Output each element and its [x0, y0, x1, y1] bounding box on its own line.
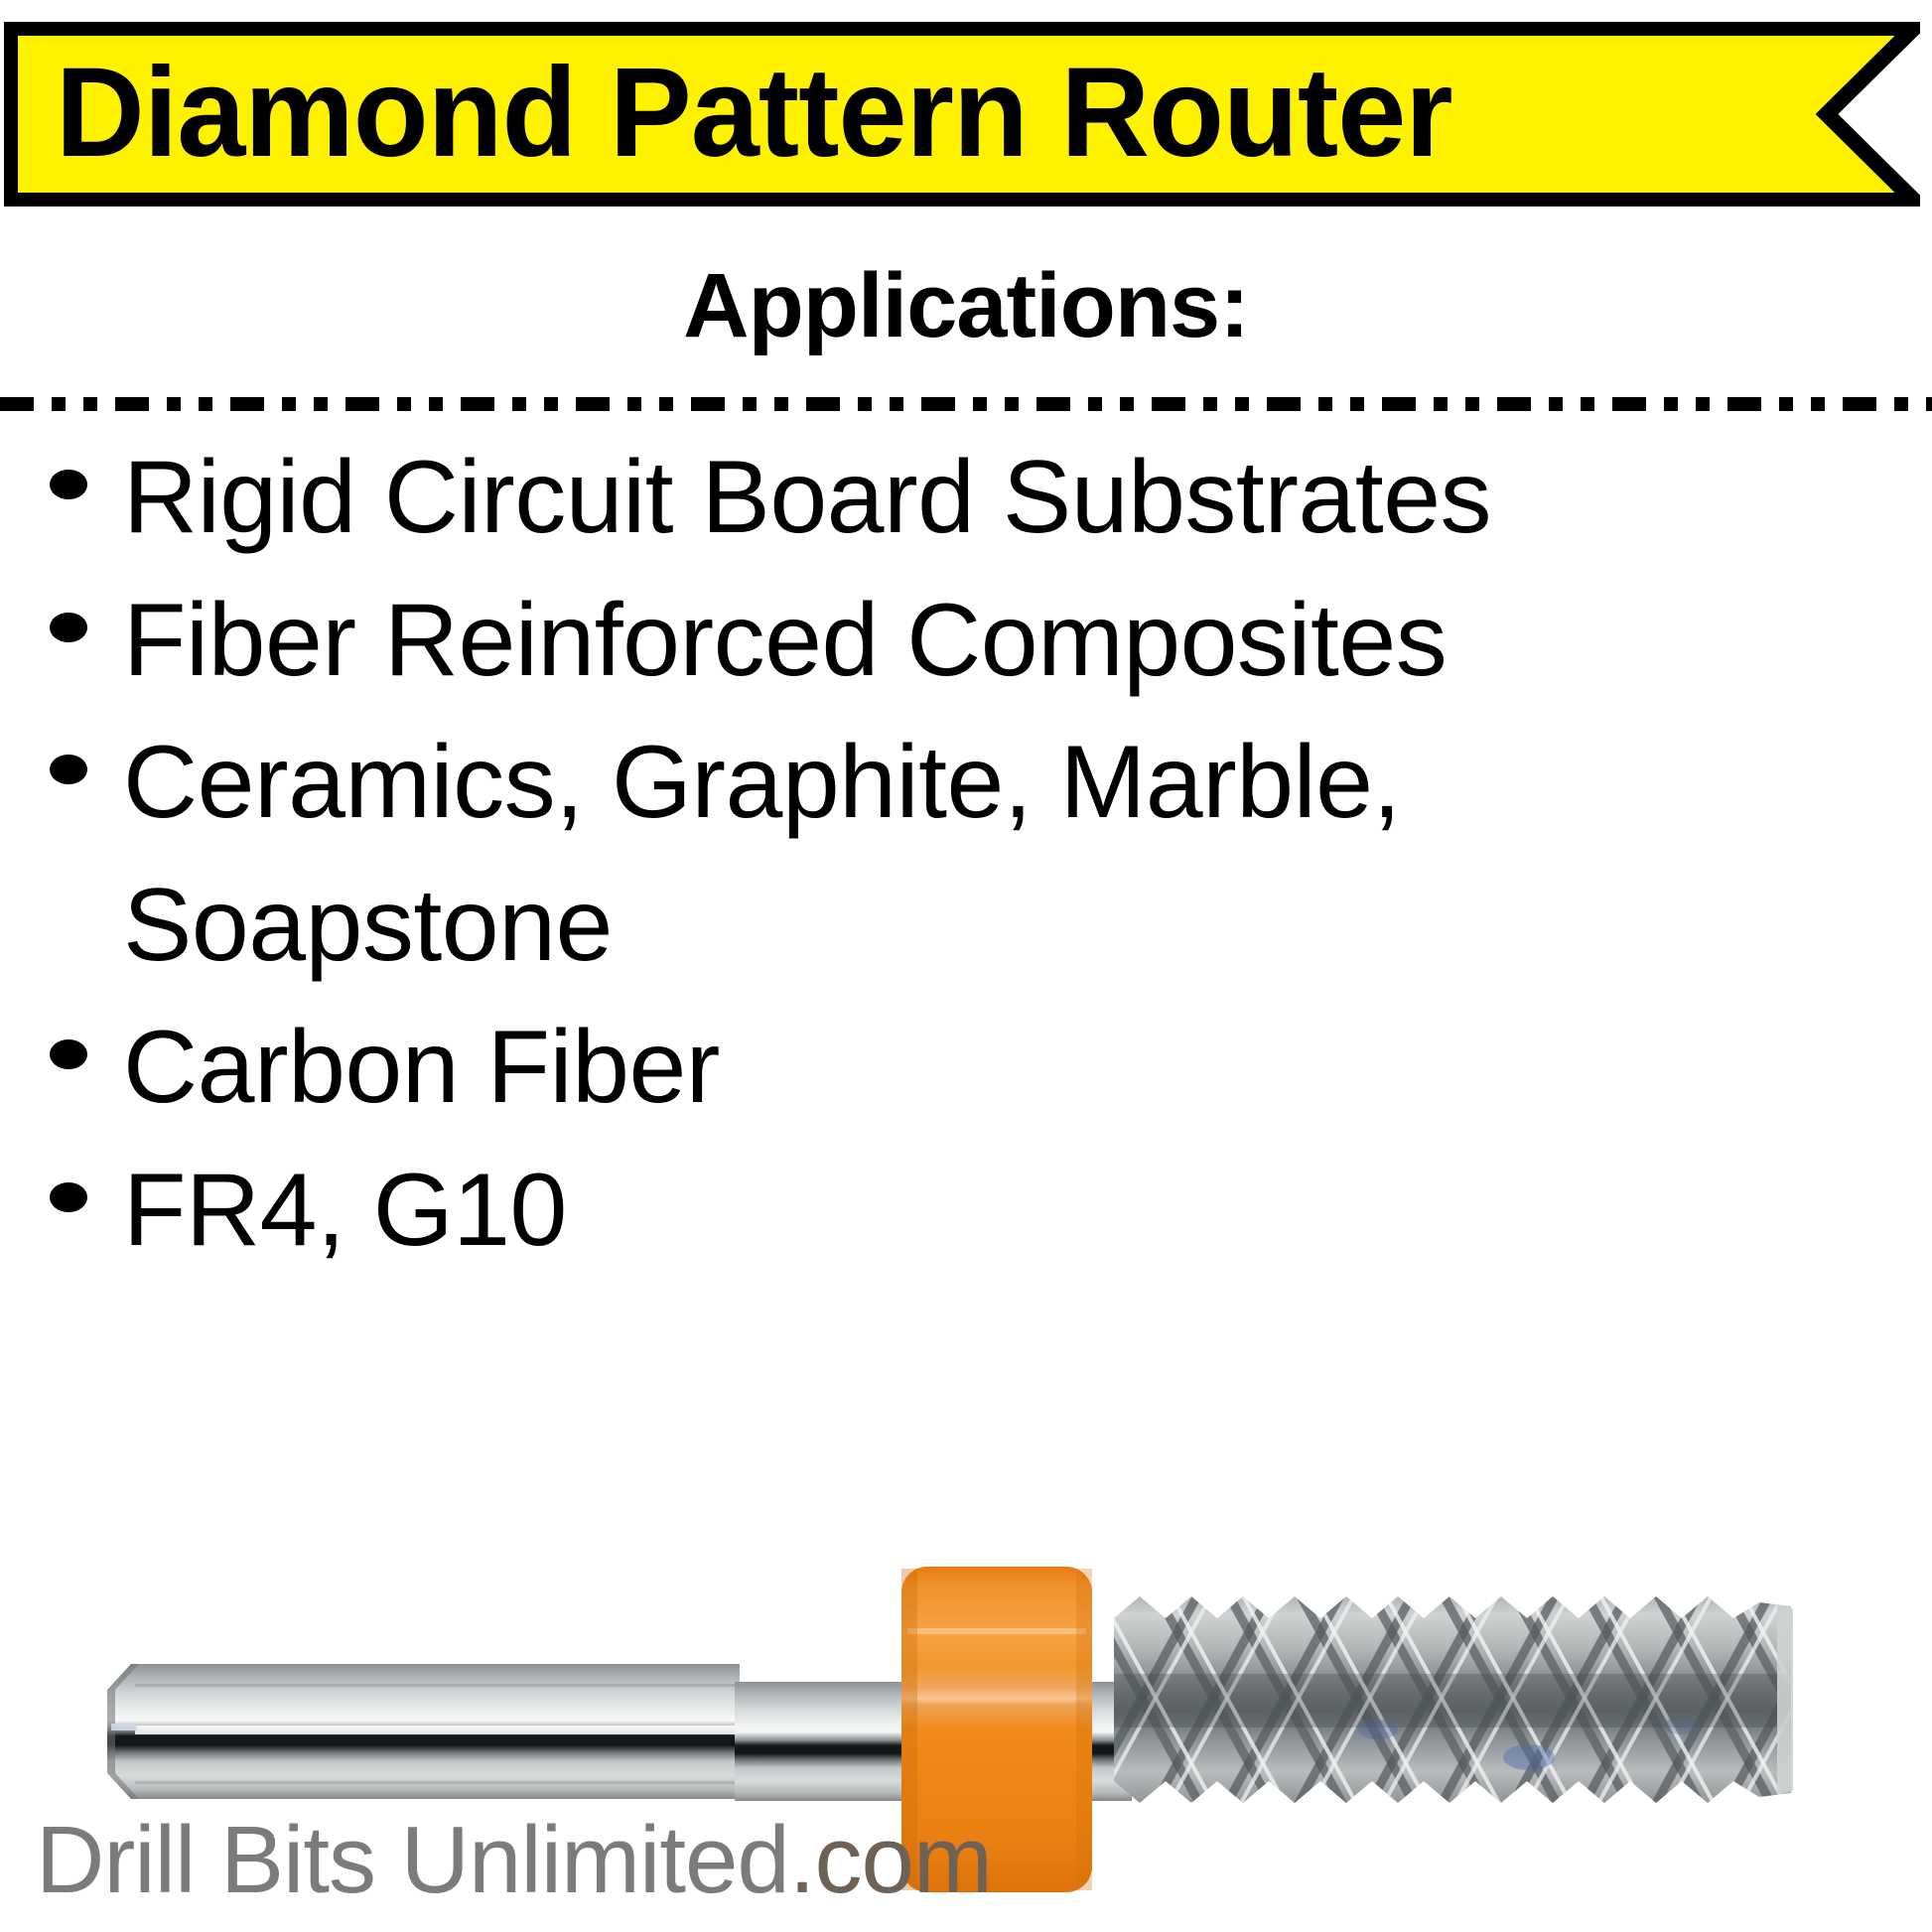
product-photo	[0, 1469, 1932, 1932]
list-item: Fiber Reinforced Composites	[0, 570, 1932, 713]
applications-list: Rigid Circuit Board Substrates Fiber Rei…	[0, 427, 1932, 1282]
product-info-card: Diamond Pattern Router Applications: Rig…	[0, 0, 1932, 1932]
list-item: Carbon Fiber	[0, 997, 1932, 1140]
router-bit-illustration	[0, 1469, 1932, 1932]
page-title: Diamond Pattern Router	[56, 44, 1693, 183]
bullet-dot-icon	[50, 470, 87, 499]
bullet-dot-icon	[50, 1039, 87, 1069]
section-divider	[0, 397, 1932, 411]
list-item-label: FR4, G10	[123, 1140, 1932, 1283]
list-item-label: Carbon Fiber	[123, 997, 1932, 1140]
list-item-label: Ceramics, Graphite, Marble,	[123, 712, 1932, 855]
list-item: FR4, G10	[0, 1140, 1932, 1283]
bullet-dot-icon	[50, 613, 87, 642]
list-item-label: Rigid Circuit Board Substrates	[123, 427, 1932, 570]
diamond-flute-head	[1082, 1588, 1859, 1807]
list-item-label: Soapstone	[123, 855, 1932, 998]
bullet-dot-icon	[50, 1182, 87, 1212]
steel-shank	[107, 1664, 740, 1799]
list-item: Ceramics, Graphite, Marble,	[0, 712, 1932, 855]
title-banner: Diamond Pattern Router	[4, 22, 1920, 207]
orange-stop-ring	[901, 1567, 1092, 1892]
applications-heading: Applications:	[0, 260, 1932, 351]
list-item: Rigid Circuit Board Substrates	[0, 427, 1932, 570]
list-item-label: Fiber Reinforced Composites	[123, 570, 1932, 713]
bullet-dot-icon	[50, 755, 87, 784]
list-item-continuation: Soapstone	[0, 855, 1932, 998]
